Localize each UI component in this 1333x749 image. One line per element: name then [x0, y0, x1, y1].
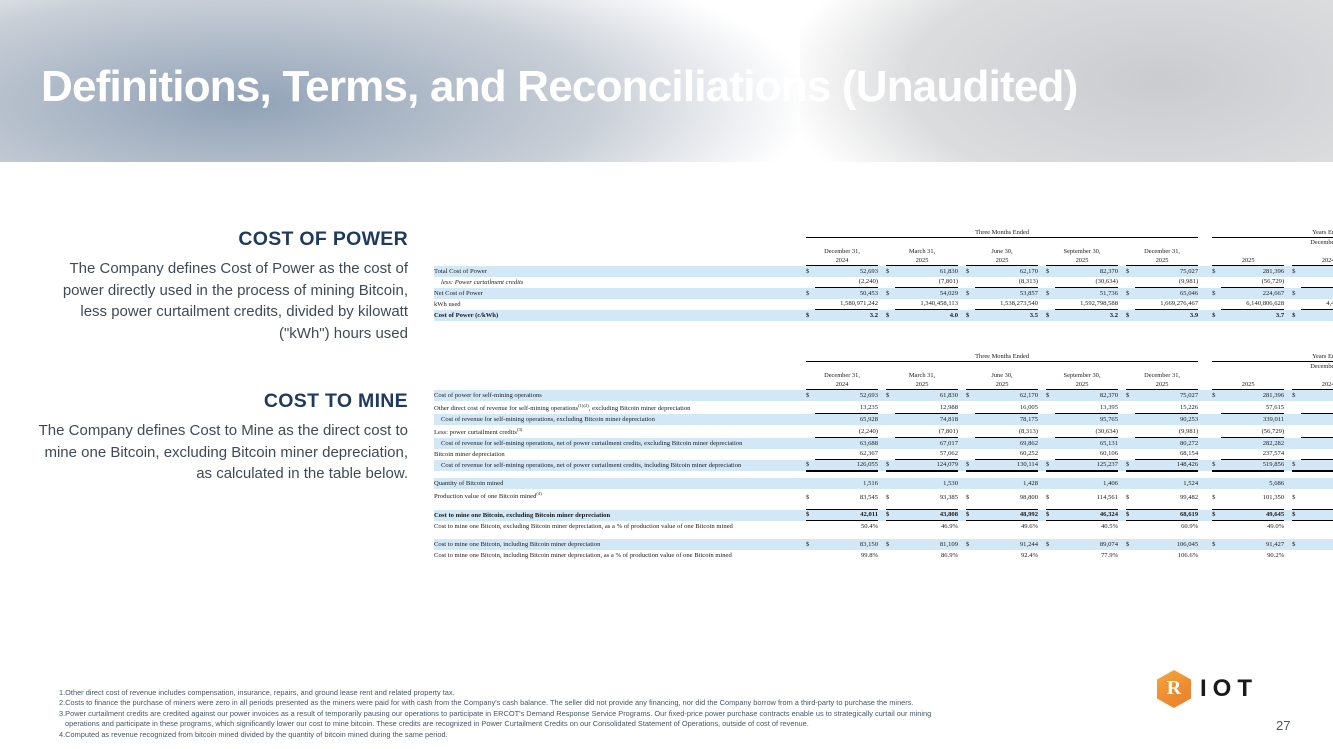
- currency-symbol: $: [886, 266, 895, 277]
- cell-value: 6,140,806,628: [1221, 299, 1284, 310]
- cell-value: 1,524: [1135, 478, 1198, 489]
- cell-value: (2,240): [815, 425, 878, 438]
- cell-value: 77.9%: [1055, 550, 1118, 561]
- cell-value: 13,395: [1055, 401, 1118, 414]
- cell-value: 68,154: [1135, 449, 1198, 460]
- cell-value: 106,045: [1135, 539, 1198, 550]
- currency-symbol: $: [1212, 390, 1221, 401]
- definition-heading: COST TO MINE: [36, 390, 408, 413]
- cell-value: 16,005: [975, 401, 1038, 414]
- cell-value: (56,729): [1221, 277, 1284, 288]
- row-label: kWh used: [434, 299, 806, 310]
- cell-value: 519,856: [1221, 460, 1284, 472]
- table-row: Total Cost of Power $52,693 $61,830 $62,…: [434, 266, 1333, 277]
- currency-symbol: $: [1046, 288, 1055, 299]
- cell-value: 69,862: [975, 438, 1038, 449]
- currency-symbol: $: [1292, 390, 1301, 401]
- currency-symbol: $: [1292, 539, 1301, 550]
- currency-symbol: $: [886, 288, 895, 299]
- cell-value: 15,226: [1135, 401, 1198, 414]
- currency-symbol: $: [1126, 310, 1135, 321]
- cell-value: 54,029: [895, 288, 958, 299]
- cell-value: 3.5: [975, 310, 1038, 321]
- row-label: Cost of Power (c/kWh): [434, 310, 806, 321]
- col-header-q5-line2: 2025: [1126, 380, 1198, 390]
- currency-symbol: $: [806, 510, 815, 521]
- group-header-row: Three Months Ended Years Ended: [434, 228, 1333, 238]
- cell-value: 75,027: [1135, 390, 1198, 401]
- table-row: Cost to mine one Bitcoin, including Bitc…: [434, 539, 1333, 550]
- currency-symbol: $: [806, 266, 815, 277]
- col-header-y2-line2: 2024: [1292, 256, 1333, 266]
- currency-symbol: $: [1126, 390, 1135, 401]
- cell-value: 39,908: [1301, 510, 1333, 521]
- col-header-q1-line1: December 31,: [806, 247, 878, 256]
- cell-value: 50.4%: [815, 521, 878, 532]
- col-header-q3-line1: June 30,: [966, 247, 1038, 256]
- cell-value: 49.0%: [1221, 521, 1284, 532]
- cell-value: 80,272: [1135, 438, 1198, 449]
- table-row: Less: power curtailment credits(3) (2,24…: [434, 425, 1333, 438]
- cell-value: 83,545: [815, 489, 878, 502]
- table-row: Cost to mine one Bitcoin, excluding Bitc…: [434, 510, 1333, 521]
- cell-value: 114,561: [1055, 489, 1118, 502]
- header-banner: Definitions, Terms, and Reconciliations …: [0, 0, 1333, 162]
- row-label: Cost of revenue for self-mining operatio…: [434, 460, 806, 472]
- currency-symbol: $: [1292, 510, 1301, 521]
- cell-value: 57,615: [1221, 401, 1284, 414]
- cell-value: 92.4%: [975, 550, 1038, 561]
- col-header-q4-line2: 2025: [1046, 256, 1118, 266]
- row-label: Net Cost of Power: [434, 288, 806, 299]
- cell-value: 46.9%: [895, 521, 958, 532]
- cell-value: 1,538,273,540: [975, 299, 1038, 310]
- cell-value: 1,530: [895, 478, 958, 489]
- table-row: less: Power curtailment credits (2,240) …: [434, 277, 1333, 288]
- table-row: Bitcoin miner depreciation 62,367 57,062…: [434, 449, 1333, 460]
- group-header-years-ended: Years Ended: [1212, 228, 1333, 238]
- currency-symbol: $: [966, 390, 975, 401]
- table-row: Cost of revenue for self-mining operatio…: [434, 460, 1333, 472]
- cell-value: 1,592,798,588: [1055, 299, 1118, 310]
- footnote-3: 3.Power curtailment credits are credited…: [59, 709, 1169, 719]
- cell-value: 224,667: [1221, 288, 1284, 299]
- cell-value: 108.9%: [1301, 550, 1333, 561]
- group-header-three-months: Three Months Ended: [806, 228, 1198, 238]
- currency-symbol: $: [1046, 310, 1055, 321]
- cell-value: 49,645: [1221, 510, 1284, 521]
- table-row: Cost to mine one Bitcoin, including Bitc…: [434, 550, 1333, 561]
- currency-symbol: $: [886, 510, 895, 521]
- cost-to-mine-table: Three Months Ended Years Ended December …: [434, 352, 1333, 561]
- cell-value: 62,170: [975, 266, 1038, 277]
- cell-value: 148,426: [1135, 460, 1198, 472]
- cell-value: (30,634): [1055, 277, 1118, 288]
- cell-value: 60.9%: [1135, 521, 1198, 532]
- currency-symbol: $: [886, 390, 895, 401]
- currency-symbol: $: [806, 288, 815, 299]
- group-subheader-december: December 31,: [1212, 238, 1333, 248]
- currency-symbol: $: [966, 460, 975, 472]
- footnote-2: 2.Costs to finance the purchase of miner…: [59, 698, 1169, 708]
- cell-value: 65,046: [1135, 288, 1198, 299]
- table-row: Cost of revenue for self-mining operatio…: [434, 414, 1333, 425]
- currency-symbol: $: [1126, 460, 1135, 472]
- cell-value: 98,800: [975, 489, 1038, 502]
- currency-symbol: $: [1046, 510, 1055, 521]
- cell-value: 186,154: [1301, 266, 1333, 277]
- col-header-q2-line1: March 31,: [886, 247, 958, 256]
- cell-value: 60.8%: [1301, 521, 1333, 532]
- cell-value: 63,688: [815, 438, 878, 449]
- cell-value: 43,808: [895, 510, 958, 521]
- riot-hexagon-icon: R: [1157, 670, 1191, 708]
- cell-value: 282,282: [1221, 438, 1284, 449]
- cell-value: 72,113: [1301, 539, 1333, 550]
- col-header-q1-line1: December 31,: [806, 371, 878, 380]
- row-label: Cost to mine one Bitcoin, including Bitc…: [434, 539, 806, 550]
- currency-symbol: $: [886, 310, 895, 321]
- cell-value: 152,469: [1301, 288, 1333, 299]
- cell-value: (30,634): [1055, 425, 1118, 438]
- cell-value: 91,244: [975, 539, 1038, 550]
- currency-symbol: $: [1126, 510, 1135, 521]
- cell-value: (56,729): [1221, 425, 1284, 438]
- cell-value: 52,693: [815, 266, 878, 277]
- cell-value: 91,427: [1221, 539, 1284, 550]
- cell-value: 3.2: [815, 310, 878, 321]
- cell-value: 1,340,458,113: [895, 299, 958, 310]
- col-header-y2-line2: 2024: [1292, 380, 1333, 390]
- group-subheader-december: December 31,: [1212, 362, 1333, 372]
- cell-value: 3.9: [1135, 310, 1198, 321]
- cell-value: 60,106: [1055, 449, 1118, 460]
- col-header-q2-line2: 2025: [886, 380, 958, 390]
- column-header-row-2: 2024 2025 2025 2025 2025 2025 2024 2023: [434, 256, 1333, 266]
- cell-value: (8,313): [975, 425, 1038, 438]
- cell-value: 86.9%: [895, 550, 958, 561]
- cell-value: 124,079: [895, 460, 958, 472]
- currency-symbol: $: [1292, 310, 1301, 321]
- cell-value: 65,131: [1055, 438, 1118, 449]
- cell-value: 126,055: [815, 460, 878, 472]
- definition-block-cost-of-power: COST OF POWER The Company defines Cost o…: [36, 228, 408, 344]
- currency-symbol: $: [806, 460, 815, 472]
- currency-symbol: $: [966, 288, 975, 299]
- column-header-row-2: 2024 2025 2025 2025 2025 2025 2024 2023: [434, 380, 1333, 390]
- currency-symbol: $: [1292, 288, 1301, 299]
- cell-value: 101,350: [1221, 489, 1284, 502]
- cell-value: 99.8%: [815, 550, 878, 561]
- cell-value: 61,830: [895, 266, 958, 277]
- row-label: Cost of power for self-mining operations: [434, 390, 806, 401]
- currency-symbol: $: [1126, 489, 1135, 502]
- cell-value: 226,359: [1301, 414, 1333, 425]
- cell-value: (33,885): [1301, 277, 1333, 288]
- cell-value: (2,240): [815, 277, 878, 288]
- table-row: Cost to mine one Bitcoin, excluding Bitc…: [434, 521, 1333, 532]
- footnote-1: 1.Other direct cost of revenue includes …: [59, 688, 1169, 698]
- cell-value: 5,686: [1221, 478, 1284, 489]
- group-subheader-row: December 31,: [434, 238, 1333, 248]
- row-label: Cost to mine one Bitcoin, excluding Bitc…: [434, 521, 806, 532]
- table-spacer-row: [434, 532, 1333, 539]
- col-header-q3-line1: June 30,: [966, 371, 1038, 380]
- riot-logo: R IOT: [1157, 670, 1258, 708]
- currency-symbol: $: [1292, 489, 1301, 502]
- table-row: Other direct cost of revenue for self-mi…: [434, 401, 1333, 414]
- cell-value: 60,252: [975, 449, 1038, 460]
- cell-value: (9,981): [1135, 277, 1198, 288]
- cell-value: 53,857: [975, 288, 1038, 299]
- row-label: Total Cost of Power: [434, 266, 806, 277]
- cell-value: 48,992: [975, 510, 1038, 521]
- table-row: kWh used 1,580,971,242 1,340,458,113 1,5…: [434, 299, 1333, 310]
- cell-value: 130,114: [975, 460, 1038, 472]
- currency-symbol: $: [1046, 390, 1055, 401]
- cell-value: 281,396: [1221, 390, 1284, 401]
- cell-value: 62,367: [815, 449, 878, 460]
- group-subheader-row: December 31,: [434, 362, 1333, 372]
- cell-value: 74,818: [895, 414, 958, 425]
- cell-value: (9,981): [1135, 425, 1198, 438]
- riot-logo-text: IOT: [1200, 675, 1258, 703]
- currency-symbol: $: [1046, 489, 1055, 502]
- row-label: less: Power curtailment credits: [434, 277, 806, 288]
- cell-value: 3.4: [1301, 310, 1333, 321]
- col-header-q5-line1: December 31,: [1126, 247, 1198, 256]
- cell-value: 51,736: [1055, 288, 1118, 299]
- cell-value: 67,017: [895, 438, 958, 449]
- cell-value: 4,828: [1301, 478, 1333, 489]
- currency-symbol: $: [1212, 539, 1221, 550]
- col-header-q3-line2: 2025: [966, 256, 1038, 266]
- cell-value: 1,669,276,467: [1135, 299, 1198, 310]
- cell-value: 155,487: [1301, 449, 1333, 460]
- cell-value: 40,205: [1301, 401, 1333, 414]
- row-label: Cost to mine one Bitcoin, including Bitc…: [434, 550, 806, 561]
- cell-value: 348,161: [1301, 460, 1333, 472]
- col-header-q5-line2: 2025: [1126, 256, 1198, 266]
- cell-value: 4.0: [895, 310, 958, 321]
- cell-value: 40.5%: [1055, 521, 1118, 532]
- currency-symbol: $: [1126, 539, 1135, 550]
- row-label: Cost of revenue for self-mining operatio…: [434, 438, 806, 449]
- row-label: Quantity of Bitcoin mined: [434, 478, 806, 489]
- row-label: Production value of one Bitcoin mined(4): [434, 489, 806, 502]
- currency-symbol: $: [966, 539, 975, 550]
- cell-value: 52,693: [815, 390, 878, 401]
- cell-value: 81,109: [895, 539, 958, 550]
- cell-value: 46,324: [1055, 510, 1118, 521]
- currency-symbol: $: [966, 489, 975, 502]
- cell-value: 237,574: [1221, 449, 1284, 460]
- cell-value: 1,428: [975, 478, 1038, 489]
- currency-symbol: $: [1126, 288, 1135, 299]
- col-header-q2-line2: 2025: [886, 256, 958, 266]
- cell-value: 49.6%: [975, 521, 1038, 532]
- cell-value: 50,453: [815, 288, 878, 299]
- cell-value: 89,074: [1055, 539, 1118, 550]
- col-header-q1-line2: 2024: [806, 256, 878, 266]
- column-header-row-1: December 31, March 31, June 30, Septembe…: [434, 371, 1333, 380]
- definition-body: The Company defines Cost of Power as the…: [36, 258, 408, 344]
- col-header-q4-line2: 2025: [1046, 380, 1118, 390]
- footnotes: 1.Other direct cost of revenue includes …: [59, 688, 1169, 740]
- row-label: Cost of revenue for self-mining operatio…: [434, 414, 806, 425]
- cell-value: 57,062: [895, 449, 958, 460]
- cell-value: 95,765: [1055, 414, 1118, 425]
- table-spacer-row: [434, 503, 1333, 510]
- currency-symbol: $: [1212, 266, 1221, 277]
- cell-value: 186,154: [1301, 390, 1333, 401]
- column-header-row-1: December 31, March 31, June 30, Septembe…: [434, 247, 1333, 256]
- cell-value: 75,027: [1135, 266, 1198, 277]
- currency-symbol: $: [1212, 288, 1221, 299]
- riot-logo-mark: R: [1157, 677, 1191, 700]
- currency-symbol: $: [806, 310, 815, 321]
- cell-value: 13,235: [815, 401, 878, 414]
- currency-symbol: $: [1292, 460, 1301, 472]
- col-header-q3-line2: 2025: [966, 380, 1038, 390]
- group-header-three-months: Three Months Ended: [806, 352, 1198, 362]
- cell-value: 83,150: [815, 539, 878, 550]
- currency-symbol: $: [966, 310, 975, 321]
- currency-symbol: $: [1126, 266, 1135, 277]
- currency-symbol: $: [806, 489, 815, 502]
- table-row: Production value of one Bitcoin mined(4)…: [434, 489, 1333, 502]
- cell-value: 12,988: [895, 401, 958, 414]
- page-number: 27: [1276, 718, 1290, 733]
- cell-value: 82,370: [1055, 390, 1118, 401]
- row-label: Less: power curtailment credits(3): [434, 425, 806, 438]
- col-header-q1-line2: 2024: [806, 380, 878, 390]
- cell-value: 66,408: [1301, 489, 1333, 502]
- cell-value: 125,237: [1055, 460, 1118, 472]
- row-label: Cost to mine one Bitcoin, excluding Bitc…: [434, 510, 806, 521]
- cell-value: 192,674: [1301, 438, 1333, 449]
- cell-value: 3.7: [1221, 310, 1284, 321]
- currency-symbol: $: [1046, 460, 1055, 472]
- currency-symbol: $: [1212, 310, 1221, 321]
- col-header-y1-line2: 2025: [1212, 256, 1284, 266]
- group-header-row: Three Months Ended Years Ended: [434, 352, 1333, 362]
- definition-body: The Company defines Cost to Mine as the …: [36, 420, 408, 485]
- cost-of-power-table-body: Three Months Ended Years Ended December …: [434, 228, 1333, 321]
- currency-symbol: $: [1046, 539, 1055, 550]
- cell-value: 99,482: [1135, 489, 1198, 502]
- cell-value: 90,253: [1135, 414, 1198, 425]
- cell-value: 68,619: [1135, 510, 1198, 521]
- currency-symbol: $: [886, 489, 895, 502]
- cell-value: (8,313): [975, 277, 1038, 288]
- currency-symbol: $: [966, 510, 975, 521]
- table-row: Net Cost of Power $50,453 $54,029 $53,85…: [434, 288, 1333, 299]
- currency-symbol: $: [1212, 510, 1221, 521]
- row-label: Other direct cost of revenue for self-mi…: [434, 401, 806, 414]
- cell-value: 339,011: [1221, 414, 1284, 425]
- cell-value: 4,443,677,036: [1301, 299, 1333, 310]
- footnote-3-continued: operations and participate in these prog…: [59, 719, 1169, 729]
- cell-value: (7,801): [895, 277, 958, 288]
- col-header-q4-line1: September 30,: [1046, 371, 1118, 380]
- table-row: Cost of Power (c/kWh) $3.2 $4.0 $3.5 $3.…: [434, 310, 1333, 321]
- cell-value: 62,170: [975, 390, 1038, 401]
- currency-symbol: $: [806, 390, 815, 401]
- cell-value: 1,516: [815, 478, 878, 489]
- currency-symbol: $: [886, 539, 895, 550]
- definition-block-cost-to-mine: COST TO MINE The Company defines Cost to…: [36, 390, 408, 485]
- cell-value: 1,580,971,242: [815, 299, 878, 310]
- cell-value: (7,801): [895, 425, 958, 438]
- cell-value: 1,406: [1055, 478, 1118, 489]
- currency-symbol: $: [1212, 489, 1221, 502]
- currency-symbol: $: [1292, 266, 1301, 277]
- cost-of-power-table: Three Months Ended Years Ended December …: [434, 228, 1333, 321]
- col-header-y1-line2: 2025: [1212, 380, 1284, 390]
- table-spacer-row: [434, 471, 1333, 478]
- cell-value: 90.2%: [1221, 550, 1284, 561]
- cell-value: 82,370: [1055, 266, 1118, 277]
- table-row: Cost of revenue for self-mining operatio…: [434, 438, 1333, 449]
- cell-value: 42,011: [815, 510, 878, 521]
- cell-value: 93,385: [895, 489, 958, 502]
- col-header-q4-line1: September 30,: [1046, 247, 1118, 256]
- currency-symbol: $: [886, 460, 895, 472]
- table-row: Cost of power for self-mining operations…: [434, 390, 1333, 401]
- cost-to-mine-table-body: Three Months Ended Years Ended December …: [434, 352, 1333, 561]
- page-title: Definitions, Terms, and Reconciliations …: [41, 62, 1078, 112]
- currency-symbol: $: [1046, 266, 1055, 277]
- row-label: Bitcoin miner depreciation: [434, 449, 806, 460]
- definition-heading: COST OF POWER: [36, 228, 408, 251]
- footnote-4: 4.Computed as revenue recognized from bi…: [59, 730, 1169, 740]
- currency-symbol: $: [1212, 460, 1221, 472]
- cell-value: 3.2: [1055, 310, 1118, 321]
- cell-value: 281,396: [1221, 266, 1284, 277]
- cell-value: 61,830: [895, 390, 958, 401]
- col-header-q2-line1: March 31,: [886, 371, 958, 380]
- group-header-years-ended: Years Ended: [1212, 352, 1333, 362]
- cell-value: 65,928: [815, 414, 878, 425]
- cell-value: (33,885): [1301, 425, 1333, 438]
- table-row: Quantity of Bitcoin mined 1,516 1,530 1,…: [434, 478, 1333, 489]
- col-header-q5-line1: December 31,: [1126, 371, 1198, 380]
- currency-symbol: $: [966, 266, 975, 277]
- cell-value: 106.6%: [1135, 550, 1198, 561]
- cell-value: 78,175: [975, 414, 1038, 425]
- currency-symbol: $: [806, 539, 815, 550]
